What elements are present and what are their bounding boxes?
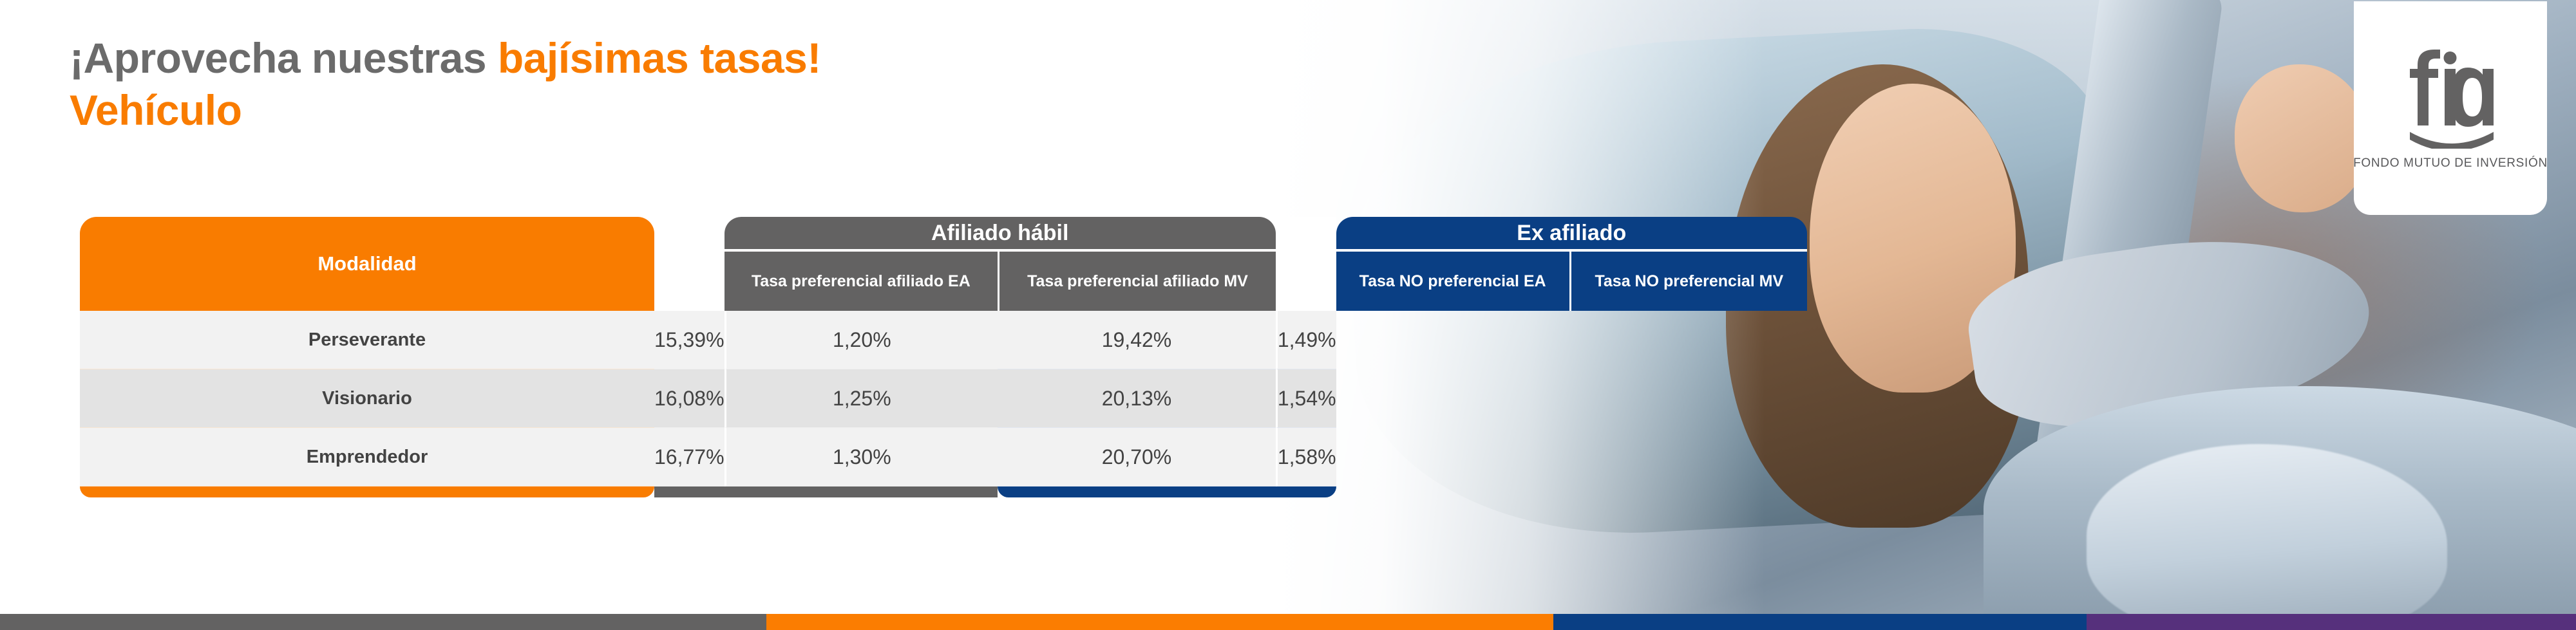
cell-modalidad: Visionario bbox=[80, 369, 654, 428]
fia-logo-badge: FONDO MUTUO DE INVERSIÓN bbox=[2354, 1, 2547, 215]
cell-tasa-pref-ea: 16,08% bbox=[654, 369, 724, 428]
group-header-afiliado-habil: Afiliado hábil bbox=[724, 217, 1276, 249]
table-group-header-row: Modalidad Afiliado hábil Ex afiliado bbox=[80, 217, 1807, 249]
column-gap-2 bbox=[1276, 217, 1336, 311]
headline-line-2: Vehículo bbox=[70, 84, 1229, 136]
column-gap-1 bbox=[654, 217, 724, 311]
bottom-color-bar bbox=[0, 614, 2576, 630]
cell-tasa-nopref-mv: 1,54% bbox=[1276, 369, 1336, 428]
table-footer-gray bbox=[654, 486, 998, 497]
headline-block: ¡Aprovecha nuestras bajísimas tasas! Veh… bbox=[70, 32, 1229, 136]
group-header-ex-afiliado: Ex afiliado bbox=[1336, 217, 1807, 249]
table-body: Perseverante 15,39% 1,20% 19,42% 1,49% V… bbox=[80, 311, 1807, 497]
table-row: Perseverante 15,39% 1,20% 19,42% 1,49% bbox=[80, 311, 1807, 369]
logo-tagline: FONDO MUTUO DE INVERSIÓN bbox=[2353, 156, 2548, 171]
cell-tasa-pref-mv: 1,20% bbox=[724, 311, 998, 369]
table-footer-blue bbox=[998, 486, 1336, 497]
table-footer-orange bbox=[80, 486, 654, 497]
table-row: Visionario 16,08% 1,25% 20,13% 1,54% bbox=[80, 369, 1807, 428]
column-header-modalidad: Modalidad bbox=[80, 217, 654, 311]
cell-tasa-nopref-mv: 1,49% bbox=[1276, 311, 1336, 369]
cell-tasa-nopref-mv: 1,58% bbox=[1276, 428, 1336, 486]
headline-gray-text: ¡Aprovecha nuestras bbox=[70, 34, 498, 82]
bottom-bar-segment-orange bbox=[766, 614, 1553, 630]
column-header-tasa-nopref-mv: Tasa NO preferencial MV bbox=[1569, 249, 1807, 311]
column-header-tasa-pref-ea: Tasa preferencial afiliado EA bbox=[724, 249, 998, 311]
bottom-bar-segment-purple bbox=[2087, 614, 2576, 630]
rates-table: Modalidad Afiliado hábil Ex afiliado Tas… bbox=[80, 217, 1807, 497]
table-head: Modalidad Afiliado hábil Ex afiliado Tas… bbox=[80, 217, 1807, 311]
cell-tasa-nopref-ea: 20,70% bbox=[998, 428, 1276, 486]
person-hand-shape bbox=[2235, 64, 2370, 212]
table-row: Emprendedor 16,77% 1,30% 20,70% 1,58% bbox=[80, 428, 1807, 486]
fia-wordmark-icon bbox=[2394, 46, 2507, 149]
bottom-bar-segment-gray bbox=[0, 614, 766, 630]
promo-banner: FONDO MUTUO DE INVERSIÓN ¡Aprovecha nues… bbox=[0, 0, 2576, 630]
cell-modalidad: Perseverante bbox=[80, 311, 654, 369]
table-footer-accent-row bbox=[80, 486, 1807, 497]
cell-tasa-pref-mv: 1,30% bbox=[724, 428, 998, 486]
cell-modalidad: Emprendedor bbox=[80, 428, 654, 486]
cell-tasa-pref-ea: 15,39% bbox=[654, 311, 724, 369]
headline-line-1: ¡Aprovecha nuestras bajísimas tasas! bbox=[70, 32, 1229, 84]
cell-tasa-nopref-ea: 20,13% bbox=[998, 369, 1276, 428]
column-header-tasa-pref-mv: Tasa preferencial afiliado MV bbox=[998, 249, 1276, 311]
cell-tasa-pref-mv: 1,25% bbox=[724, 369, 998, 428]
column-header-tasa-nopref-ea: Tasa NO preferencial EA bbox=[1336, 249, 1569, 311]
headline-orange-text: bajísimas tasas! bbox=[498, 34, 821, 82]
cell-tasa-nopref-ea: 19,42% bbox=[998, 311, 1276, 369]
cell-tasa-pref-ea: 16,77% bbox=[654, 428, 724, 486]
bottom-bar-segment-blue bbox=[1553, 614, 2087, 630]
